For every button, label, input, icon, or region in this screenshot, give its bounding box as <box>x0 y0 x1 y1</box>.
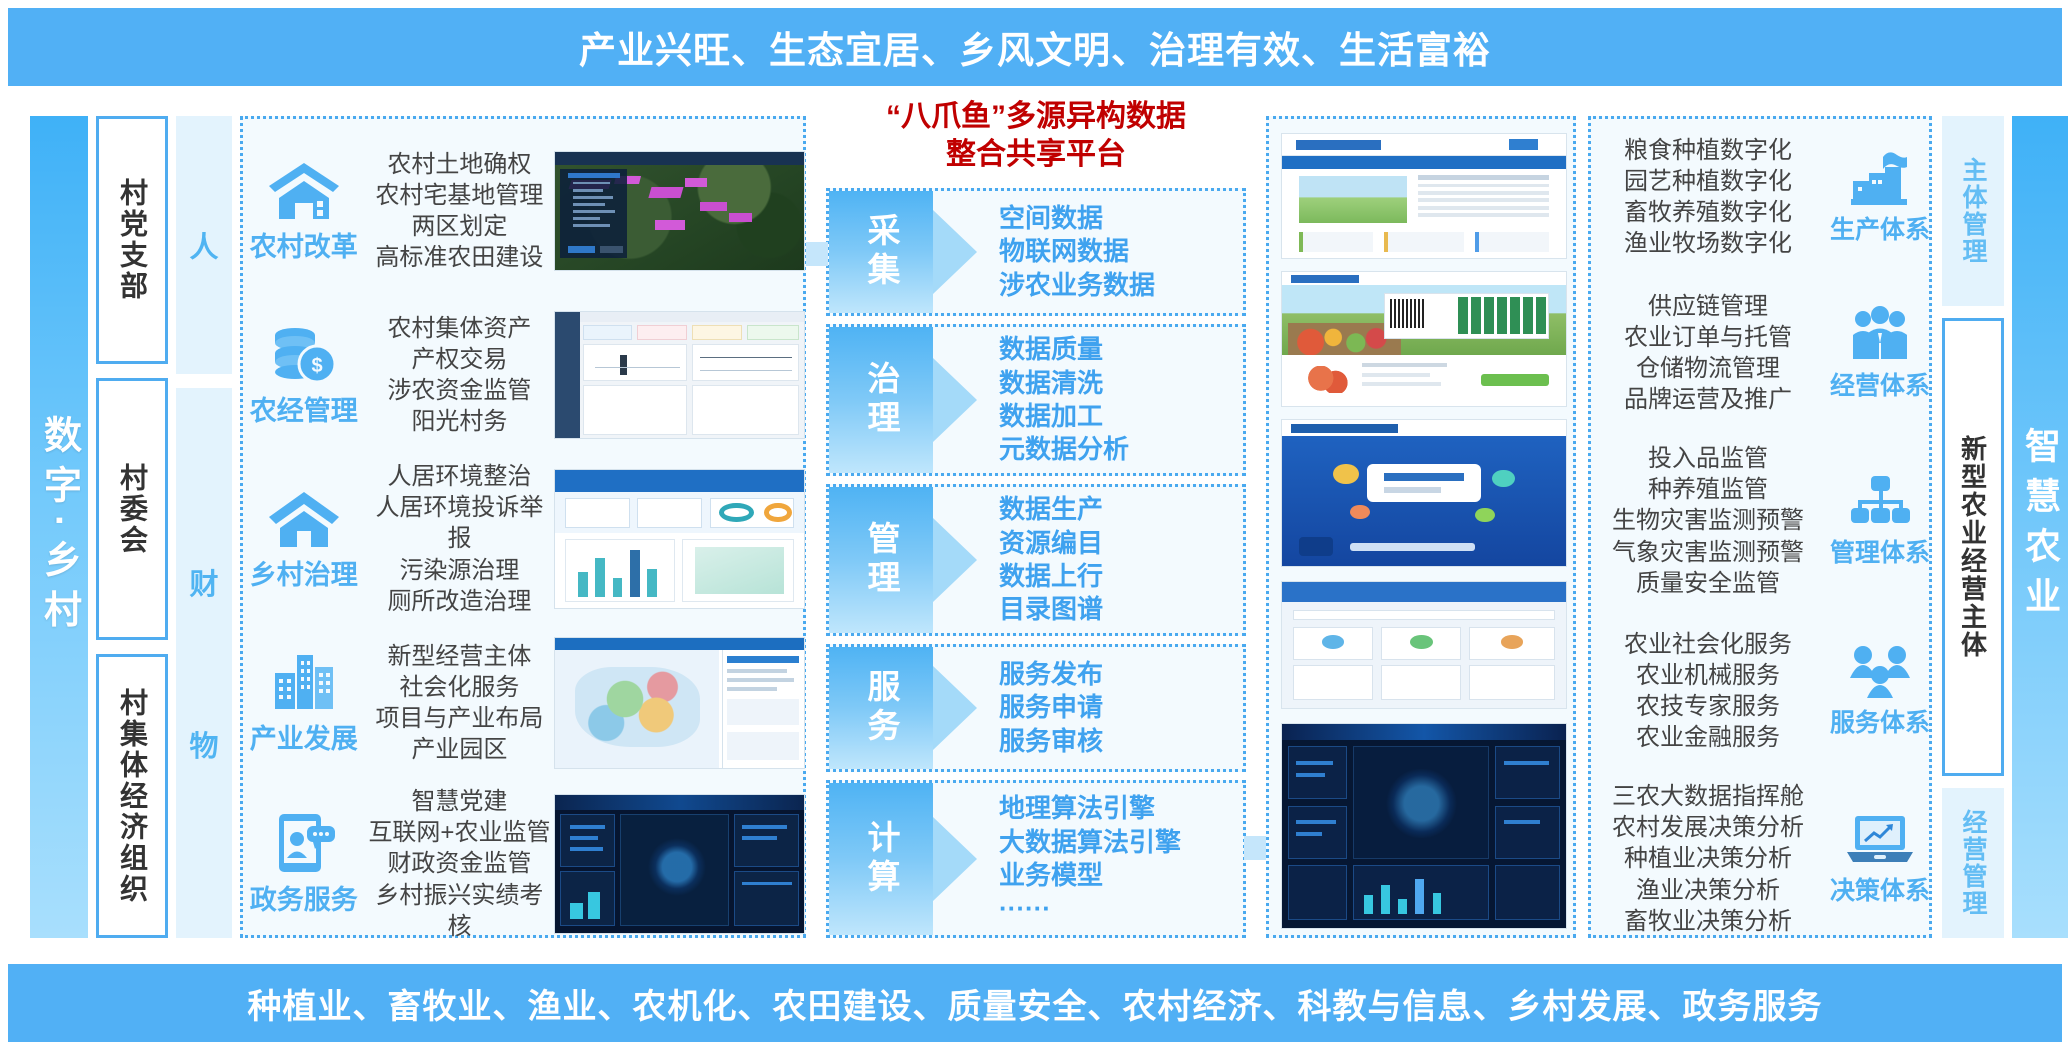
feature-icon-wrap: 政务服务 <box>243 812 365 917</box>
stage-item: 数据上行 <box>999 560 1103 593</box>
system-icon-wrap: 生产体系 <box>1825 149 1935 246</box>
screenshot-agri-ecommerce[interactable] <box>1281 271 1567 407</box>
org-box-party-branch[interactable]: 村党支部 <box>96 116 168 364</box>
system-line: 投入品监管 <box>1591 443 1825 474</box>
feature-lines: 人居环境整治 人居环境投诉举报 污染源治理 厕所改造治理 <box>365 461 555 617</box>
system-row-management[interactable]: 投入品监管 种养殖监管 生物灾害监测预警 气象灾害监测预警 质量安全监管 <box>1591 441 1935 601</box>
resource-label-finance: 财 <box>189 561 218 603</box>
feature-line: 新型经营主体 <box>365 641 555 672</box>
system-line: 质量安全监管 <box>1591 568 1825 599</box>
stage-item: 服务审核 <box>999 725 1103 758</box>
feature-icon-wrap: 产业发展 <box>243 651 365 756</box>
feature-lines: 智慧党建 互联网+农业监管 财政资金监管 乡村振兴实绩考核 <box>365 786 555 942</box>
system-row-production[interactable]: 粮食种植数字化 园艺种植数字化 畜牧养殖数字化 渔业牧场数字化 <box>1591 129 1935 265</box>
screenshot-agri-portal[interactable] <box>1281 133 1567 259</box>
stage-name: 采集 <box>857 213 905 291</box>
feature-name: 政务服务 <box>250 878 358 917</box>
stage-name: 管理 <box>857 521 905 599</box>
buildings-icon <box>267 651 341 713</box>
stage-manage[interactable]: 管理 数据生产 资源编目 数据上行 目录图谱 <box>826 484 1246 636</box>
org-chart-icon <box>1847 474 1913 530</box>
system-name: 生产体系 <box>1830 210 1930 246</box>
top-banner-text: 产业兴旺、生态宜居、乡风文明、治理有效、生活富裕 <box>579 20 1491 74</box>
system-icon-wrap: 经营体系 <box>1825 305 1935 402</box>
coins-dollar-icon: $ <box>267 323 341 385</box>
stage-collect[interactable]: 采集 空间数据 物联网数据 涉农业务数据 <box>826 188 1246 316</box>
connector-left-to-center <box>806 242 828 266</box>
feature-line: 产权交易 <box>365 344 555 375</box>
feature-line: 人居环境投诉举报 <box>365 492 555 554</box>
system-line: 种植业决策分析 <box>1591 843 1825 874</box>
system-lines: 供应链管理 农业订单与托管 仓储物流管理 品牌运营及推广 <box>1591 291 1825 416</box>
system-line: 农业社会化服务 <box>1591 629 1825 660</box>
house-roof-icon <box>267 159 341 221</box>
right-label-text: 经营管理 <box>1955 809 1991 917</box>
stage-tab: 采集 <box>829 191 933 313</box>
feature-line: 财政资金监管 <box>365 848 555 879</box>
stage-item: 数据加工 <box>999 400 1129 433</box>
stage-item: 资源编目 <box>999 527 1103 560</box>
stage-item: ······ <box>999 892 1181 925</box>
feature-icon-wrap: 乡村治理 <box>243 487 365 592</box>
feature-name: 农村改革 <box>250 225 358 264</box>
system-line: 仓储物流管理 <box>1591 353 1825 384</box>
platform-title-line2: 整合共享平台 <box>826 136 1246 174</box>
feature-row-rural-reform[interactable]: 农村改革 农村土地确权 农村宅基地管理 两区划定 高标准农田建设 <box>243 133 809 289</box>
stage-item: 大数据算法引擎 <box>999 826 1181 859</box>
feature-line: 阳光村务 <box>365 406 555 437</box>
diagram-body: 数字·乡村 村党支部 村委会 村集体经济组织 人 财 物 <box>8 96 2062 956</box>
system-row-service[interactable]: 农业社会化服务 农业机械服务 农技专家服务 农业金融服务 服务体系 <box>1591 621 1935 761</box>
laptop-chart-icon <box>1845 812 1915 868</box>
system-lines: 粮食种植数字化 园艺种植数字化 畜牧养殖数字化 渔业牧场数字化 <box>1591 135 1825 260</box>
system-screenshots-panel <box>1266 116 1576 938</box>
feature-line: 智慧党建 <box>365 786 555 817</box>
feature-lines: 农村土地确权 农村宅基地管理 两区划定 高标准农田建设 <box>365 149 555 274</box>
feature-screenshot-region-map[interactable] <box>554 625 809 781</box>
stage-name: 计算 <box>857 820 905 898</box>
feature-line: 污染源治理 <box>365 555 555 586</box>
feature-screenshot-command-center[interactable] <box>554 789 809 939</box>
village-functions-panel: 农村改革 农村土地确权 农村宅基地管理 两区划定 高标准农田建设 <box>240 116 806 938</box>
resource-column: 人 财 物 <box>176 116 232 938</box>
stage-item: 业务模型 <box>999 859 1181 892</box>
feature-lines: 农村集体资产 产权交易 涉农资金监管 阳光村务 <box>365 313 555 438</box>
resource-label-person: 人 <box>189 224 218 266</box>
stage-tab: 计算 <box>829 783 933 935</box>
stage-service[interactable]: 服务 服务发布 服务申请 服务审核 <box>826 644 1246 772</box>
feature-line: 农村土地确权 <box>365 149 555 180</box>
stage-tab: 治理 <box>829 327 933 473</box>
stage-items: 空间数据 物联网数据 涉农业务数据 <box>933 191 1243 313</box>
org-label: 村集体经济组织 <box>112 688 152 905</box>
right-vertical-bar: 智慧农业 <box>2012 116 2068 938</box>
system-name: 经营体系 <box>1830 366 1930 402</box>
system-line: 畜牧养殖数字化 <box>1591 197 1825 228</box>
feature-icon-wrap: 农村改革 <box>243 159 365 264</box>
feature-screenshot-gis-map[interactable] <box>554 133 809 289</box>
stage-item: 元数据分析 <box>999 433 1129 466</box>
left-vertical-bar: 数字·乡村 <box>30 116 88 938</box>
right-label-text: 主体管理 <box>1955 157 1991 265</box>
feature-lines: 新型经营主体 社会化服务 项目与产业布局 产业园区 <box>365 641 555 766</box>
feature-line: 高标准农田建设 <box>365 242 555 273</box>
agriculture-systems-panel: 粮食种植数字化 园艺种植数字化 畜牧养殖数字化 渔业牧场数字化 <box>1588 116 1932 938</box>
stage-items: 地理算法引擎 大数据算法引擎 业务模型 ······ <box>933 783 1243 935</box>
factory-icon <box>1847 149 1913 207</box>
right-label-subject-management: 主体管理 <box>1942 116 2004 306</box>
stage-tab: 服务 <box>829 647 933 769</box>
org-label: 村委会 <box>112 463 152 556</box>
stage-item: 目录图谱 <box>999 593 1103 626</box>
feature-icon-wrap: $ 农经管理 <box>243 323 365 428</box>
stage-compute[interactable]: 计算 地理算法引擎 大数据算法引擎 业务模型 ······ <box>826 780 1246 938</box>
diagram-root: 产业兴旺、生态宜居、乡风文明、治理有效、生活富裕 数字·乡村 村党支部 村委会 … <box>0 0 2070 1050</box>
connector-center-to-right <box>1244 836 1268 860</box>
system-line: 粮食种植数字化 <box>1591 135 1825 166</box>
stage-items: 数据质量 数据清洗 数据加工 元数据分析 <box>933 327 1243 473</box>
right-bar-label: 智慧农业 <box>2014 427 2066 627</box>
system-line: 生物灾害监测预警 <box>1591 505 1825 536</box>
stage-item: 空间数据 <box>999 202 1155 235</box>
stage-items: 服务发布 服务申请 服务审核 <box>933 647 1243 769</box>
feature-name: 农经管理 <box>250 389 358 428</box>
system-line: 农业机械服务 <box>1591 660 1825 691</box>
right-label-column: 主体管理 新型农业经营主体 经营管理 <box>1942 116 2004 938</box>
org-column: 村党支部 村委会 村集体经济组织 <box>96 116 168 938</box>
stage-name: 治理 <box>857 361 905 439</box>
screenshot-big-data-cockpit[interactable] <box>1281 723 1567 929</box>
resource-cell-finance-material: 财 物 <box>176 388 232 938</box>
stage-tab: 管理 <box>829 487 933 633</box>
stage-item: 数据生产 <box>999 493 1103 526</box>
stage-item: 涉农业务数据 <box>999 269 1155 302</box>
data-platform-column: “八爪鱼”多源异构数据 整合共享平台 采集 空间数据 物联网数据 涉农业务数据 <box>826 96 1246 956</box>
system-lines: 投入品监管 种养殖监管 生物灾害监测预警 气象灾害监测预警 质量安全监管 <box>1591 443 1825 599</box>
right-label-operation-management: 经营管理 <box>1942 788 2004 938</box>
svg-text:$: $ <box>311 355 322 377</box>
system-line: 畜牧业决策分析 <box>1591 906 1825 937</box>
resource-cell-person: 人 <box>176 116 232 374</box>
platform-title-line1: “八爪鱼”多源异构数据 <box>826 98 1246 136</box>
screenshot-food-safety[interactable] <box>1281 419 1567 567</box>
bottom-banner: 种植业、畜牧业、渔业、农机化、农田建设、质量安全、农村经济、科教与信息、乡村发展… <box>8 964 2062 1042</box>
stage-item: 服务发布 <box>999 658 1103 691</box>
stage-item: 数据质量 <box>999 333 1129 366</box>
platform-title: “八爪鱼”多源异构数据 整合共享平台 <box>826 98 1246 174</box>
system-line: 渔业决策分析 <box>1591 875 1825 906</box>
feature-screenshot-bi-chart[interactable] <box>554 461 809 617</box>
org-label: 村党支部 <box>112 178 152 302</box>
feature-line: 人居环境整治 <box>365 461 555 492</box>
feature-line: 厕所改造治理 <box>365 586 555 617</box>
system-line: 农业订单与托管 <box>1591 322 1825 353</box>
org-box-village-committee[interactable]: 村委会 <box>96 378 168 640</box>
feature-screenshot-dashboard[interactable] <box>554 297 809 453</box>
feature-line: 涉农资金监管 <box>365 375 555 406</box>
system-line: 气象灾害监测预警 <box>1591 537 1825 568</box>
feature-line: 乡村振兴实绩考核 <box>365 880 555 942</box>
stage-items: 数据生产 资源编目 数据上行 目录图谱 <box>933 487 1243 633</box>
feature-line: 互联网+农业监管 <box>365 817 555 848</box>
system-name: 管理体系 <box>1830 533 1930 569</box>
right-box-text: 新型农业经营主体 <box>1955 435 1992 659</box>
system-line: 农村发展决策分析 <box>1591 812 1825 843</box>
system-line: 农业金融服务 <box>1591 722 1825 753</box>
stage-item: 服务申请 <box>999 691 1103 724</box>
system-row-operation[interactable]: 供应链管理 农业订单与托管 仓储物流管理 品牌运营及推广 <box>1591 285 1935 421</box>
system-name: 决策体系 <box>1830 871 1930 907</box>
people-group-icon <box>1847 305 1913 363</box>
system-icon-wrap: 服务体系 <box>1825 644 1935 739</box>
left-bar-label: 数字·乡村 <box>32 415 87 640</box>
feature-row-agri-economy[interactable]: $ 农经管理 农村集体资产 产权交易 涉农资金监管 阳光村务 <box>243 297 809 453</box>
system-line: 渔业牧场数字化 <box>1591 228 1825 259</box>
org-box-collective-economy[interactable]: 村集体经济组织 <box>96 654 168 938</box>
system-line: 园艺种植数字化 <box>1591 166 1825 197</box>
system-line: 种养殖监管 <box>1591 474 1825 505</box>
bottom-banner-text: 种植业、畜牧业、渔业、农机化、农田建设、质量安全、农村经济、科教与信息、乡村发展… <box>248 979 1823 1028</box>
system-icon-wrap: 管理体系 <box>1825 474 1935 569</box>
feature-line: 农村集体资产 <box>365 313 555 344</box>
stage-item: 数据清洗 <box>999 367 1129 400</box>
feature-row-rural-governance[interactable]: 乡村治理 人居环境整治 人居环境投诉举报 污染源治理 厕所改造治理 <box>243 461 809 617</box>
system-line: 三农大数据指挥舱 <box>1591 781 1825 812</box>
right-box-new-agri-entity[interactable]: 新型农业经营主体 <box>1942 318 2004 776</box>
system-line: 品牌运营及推广 <box>1591 384 1825 415</box>
feature-line: 两区划定 <box>365 211 555 242</box>
mobile-chat-icon <box>267 812 341 874</box>
resource-label-material: 物 <box>189 723 218 765</box>
system-lines: 农业社会化服务 农业机械服务 农技专家服务 农业金融服务 <box>1591 629 1825 754</box>
feature-row-government-service[interactable]: 政务服务 智慧党建 互联网+农业监管 财政资金监管 乡村振兴实绩考核 <box>243 789 809 939</box>
feature-line: 产业园区 <box>365 734 555 765</box>
feature-line: 项目与产业布局 <box>365 703 555 734</box>
stage-item: 地理算法引擎 <box>999 792 1181 825</box>
feature-name: 产业发展 <box>250 717 358 756</box>
feature-line: 农村宅基地管理 <box>365 180 555 211</box>
feature-row-industry-dev[interactable]: 产业发展 新型经营主体 社会化服务 项目与产业布局 产业园区 <box>243 625 809 781</box>
system-line: 农技专家服务 <box>1591 691 1825 722</box>
stage-item: 物联网数据 <box>999 235 1155 268</box>
stage-name: 服务 <box>857 669 905 747</box>
feature-line: 社会化服务 <box>365 672 555 703</box>
screenshot-service-platform[interactable] <box>1281 581 1567 709</box>
stage-govern[interactable]: 治理 数据质量 数据清洗 数据加工 元数据分析 <box>826 324 1246 476</box>
system-lines: 三农大数据指挥舱 农村发展决策分析 种植业决策分析 渔业决策分析 畜牧业决策分析 <box>1591 781 1825 937</box>
home-icon <box>267 487 341 549</box>
top-banner: 产业兴旺、生态宜居、乡风文明、治理有效、生活富裕 <box>8 8 2062 86</box>
users-three-icon <box>1847 644 1913 700</box>
system-icon-wrap: 决策体系 <box>1825 812 1935 907</box>
system-name: 服务体系 <box>1830 703 1930 739</box>
feature-name: 乡村治理 <box>250 553 358 592</box>
system-line: 供应链管理 <box>1591 291 1825 322</box>
system-row-decision[interactable]: 三农大数据指挥舱 农村发展决策分析 种植业决策分析 渔业决策分析 畜牧业决策分析 <box>1591 779 1935 939</box>
